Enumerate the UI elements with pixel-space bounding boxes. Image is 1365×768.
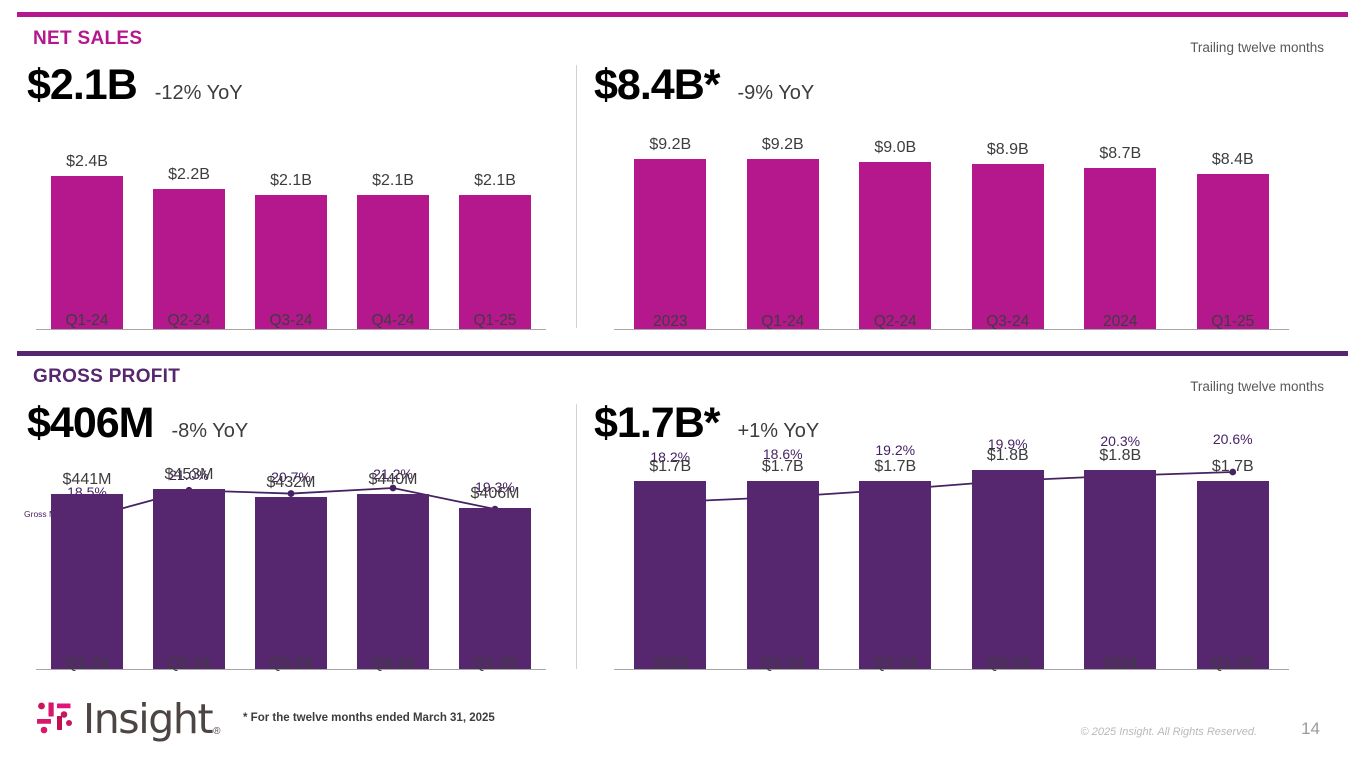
bar-value-label: $440M: [342, 471, 444, 489]
chart-net-sales-ttm: $9.2B$9.2B$9.0B$8.9B$8.7B$8.4B: [614, 140, 1289, 330]
insight-logo-wordmark: Insight: [83, 699, 212, 740]
bar-slot: $9.2B: [727, 140, 840, 330]
bar: [357, 494, 428, 670]
bar-value-label: $453M: [138, 466, 240, 484]
net-sales-panel-divider: [576, 65, 577, 328]
category-label: Q2-24: [839, 655, 952, 673]
chart-gross-profit-ttm: $1.7B$1.7B$1.7B$1.8B$1.8B$1.7B: [614, 448, 1289, 670]
bar: [972, 470, 1044, 670]
bar-value-label: $9.0B: [839, 139, 952, 157]
bar-value-label: $406M: [444, 485, 546, 503]
bar-slot: $2.2B: [138, 150, 240, 330]
bar-value-label: $8.9B: [952, 141, 1065, 159]
bar-slot: $9.0B: [839, 140, 952, 330]
margin-percent-label: 20.6%: [1177, 431, 1290, 447]
gross-profit-ttm-kpi: $1.7B* +1% YoY: [594, 402, 819, 445]
bar-slot: $2.1B: [444, 150, 546, 330]
bar: [255, 195, 326, 330]
bar-value-label: $2.1B: [240, 172, 342, 190]
category-label: Q2-24: [839, 313, 952, 331]
bar-slot: $441M: [36, 470, 138, 670]
bar: [51, 494, 122, 670]
net-sales-ttm-category-labels: 2023Q1-24Q2-24Q3-242024Q1-25: [614, 313, 1289, 331]
bar-slot: $1.7B: [614, 448, 727, 670]
category-label: Q4-24: [342, 655, 444, 673]
bar: [153, 489, 224, 670]
category-label: Q3-24: [952, 655, 1065, 673]
category-label: Q3-24: [240, 655, 342, 673]
net-sales-quarter-kpi-value: $2.1B: [27, 64, 137, 107]
bar: [1197, 481, 1269, 670]
insight-logo: Insight ®: [33, 697, 221, 741]
bar: [634, 481, 706, 670]
bar-value-label: $1.8B: [952, 447, 1065, 465]
bar-value-label: $1.8B: [1064, 447, 1177, 465]
gross-profit-ttm-bars: $1.7B$1.7B$1.7B$1.8B$1.8B$1.7B: [614, 448, 1289, 670]
bar: [972, 164, 1044, 330]
category-label: Q4-24: [342, 312, 444, 330]
net-sales-quarter-kpi: $2.1B -12% YoY: [27, 64, 243, 107]
insight-logo-mark: [33, 697, 77, 741]
category-label: 2023: [614, 313, 727, 331]
gross-profit-ttm-caption: Trailing twelve months: [1190, 379, 1324, 394]
category-label: Q3-24: [240, 312, 342, 330]
bar: [51, 176, 122, 330]
bar: [357, 195, 428, 330]
chart-gross-profit-quarterly: $441M$453M$432M$440M$406M: [36, 470, 546, 670]
footnote: * For the twelve months ended March 31, …: [243, 712, 495, 724]
category-label: Q2-24: [138, 312, 240, 330]
bar-value-label: $1.7B: [727, 458, 840, 476]
bar-slot: $1.7B: [839, 448, 952, 670]
bar-value-label: $2.4B: [36, 153, 138, 171]
category-label: Q1-24: [36, 655, 138, 673]
net-sales-quarterly-category-labels: Q1-24Q2-24Q3-24Q4-24Q1-25: [36, 312, 546, 330]
bar-value-label: $8.4B: [1177, 151, 1290, 169]
category-label: Q1-25: [1177, 313, 1290, 331]
gross-profit-panel-divider: [576, 404, 577, 669]
bar: [459, 508, 530, 670]
bar-slot: $1.7B: [1177, 448, 1290, 670]
bar-value-label: $1.7B: [1177, 458, 1290, 476]
bar-value-label: $8.7B: [1064, 145, 1177, 163]
gross-profit-ttm-kpi-delta: +1% YoY: [737, 420, 819, 443]
bar-slot: $406M: [444, 470, 546, 670]
net-sales-ttm-kpi: $8.4B* -9% YoY: [594, 64, 814, 107]
bar-slot: $1.7B: [727, 448, 840, 670]
bar-value-label: $2.2B: [138, 166, 240, 184]
bar-value-label: $2.1B: [444, 172, 546, 190]
bar-slot: $9.2B: [614, 140, 727, 330]
bar: [747, 481, 819, 670]
gross-profit-quarter-kpi-delta: -8% YoY: [171, 420, 248, 443]
bar-slot: $432M: [240, 470, 342, 670]
bar-slot: $440M: [342, 470, 444, 670]
bar-slot: $2.1B: [342, 150, 444, 330]
bar: [747, 159, 819, 330]
bar-slot: $2.1B: [240, 150, 342, 330]
section-title-gross-profit: GROSS PROFIT: [33, 366, 180, 388]
slide: NET SALES Trailing twelve months $2.1B -…: [0, 0, 1365, 768]
bar-slot: $453M: [138, 470, 240, 670]
bar-slot: $1.8B: [1064, 448, 1177, 670]
category-label: Q1-24: [727, 655, 840, 673]
bar-slot: $8.9B: [952, 140, 1065, 330]
category-label: Q1-24: [727, 313, 840, 331]
gross-profit-ttm-kpi-value: $1.7B*: [594, 402, 719, 445]
category-label: 2023: [614, 655, 727, 673]
bar: [859, 162, 931, 330]
bar-value-label: $9.2B: [614, 136, 727, 154]
bar-value-label: $1.7B: [614, 458, 727, 476]
net-sales-quarterly-bars: $2.4B$2.2B$2.1B$2.1B$2.1B: [36, 150, 546, 330]
bar-slot: $8.7B: [1064, 140, 1177, 330]
bar: [1197, 174, 1269, 330]
category-label: Q1-24: [36, 312, 138, 330]
net-sales-top-rule: [17, 12, 1348, 17]
category-label: 2024: [1064, 655, 1177, 673]
bar-slot: $8.4B: [1177, 140, 1290, 330]
bar: [153, 189, 224, 330]
bar: [1084, 168, 1156, 330]
section-title-net-sales: NET SALES: [33, 28, 142, 50]
net-sales-ttm-bars: $9.2B$9.2B$9.0B$8.9B$8.7B$8.4B: [614, 140, 1289, 330]
insight-logo-registered-mark: ®: [213, 726, 220, 737]
bar: [859, 481, 931, 670]
bar-slot: $2.4B: [36, 150, 138, 330]
net-sales-ttm-kpi-delta: -9% YoY: [737, 82, 814, 105]
gross-profit-quarter-kpi: $406M -8% YoY: [27, 402, 248, 445]
copyright-text: © 2025 Insight. All Rights Reserved.: [1081, 726, 1257, 738]
bar-value-label: $2.1B: [342, 172, 444, 190]
bar-value-label: $9.2B: [727, 136, 840, 154]
page-number: 14: [1301, 719, 1320, 739]
bar: [634, 159, 706, 330]
gross-profit-quarterly-category-labels: Q1-24Q2-24Q3-24Q4-24Q1-25: [36, 655, 546, 673]
category-label: Q1-25: [1177, 655, 1290, 673]
bar-value-label: $441M: [36, 471, 138, 489]
bar: [1084, 470, 1156, 670]
net-sales-ttm-caption: Trailing twelve months: [1190, 40, 1324, 55]
gross-profit-quarter-kpi-value: $406M: [27, 402, 153, 445]
category-label: Q3-24: [952, 313, 1065, 331]
gross-profit-top-rule: [17, 351, 1348, 356]
bar-value-label: $432M: [240, 474, 342, 492]
bar-value-label: $1.7B: [839, 458, 952, 476]
category-label: Q1-25: [444, 312, 546, 330]
net-sales-ttm-kpi-value: $8.4B*: [594, 64, 719, 107]
category-label: Q2-24: [138, 655, 240, 673]
category-label: Q1-25: [444, 655, 546, 673]
bar: [459, 195, 530, 330]
chart-net-sales-quarterly: $2.4B$2.2B$2.1B$2.1B$2.1B: [36, 150, 546, 330]
gross-profit-ttm-category-labels: 2023Q1-24Q2-24Q3-242024Q1-25: [614, 655, 1289, 673]
bar-slot: $1.8B: [952, 448, 1065, 670]
net-sales-quarter-kpi-delta: -12% YoY: [155, 82, 243, 105]
gross-profit-quarterly-bars: $441M$453M$432M$440M$406M: [36, 470, 546, 670]
bar: [255, 497, 326, 670]
category-label: 2024: [1064, 313, 1177, 331]
